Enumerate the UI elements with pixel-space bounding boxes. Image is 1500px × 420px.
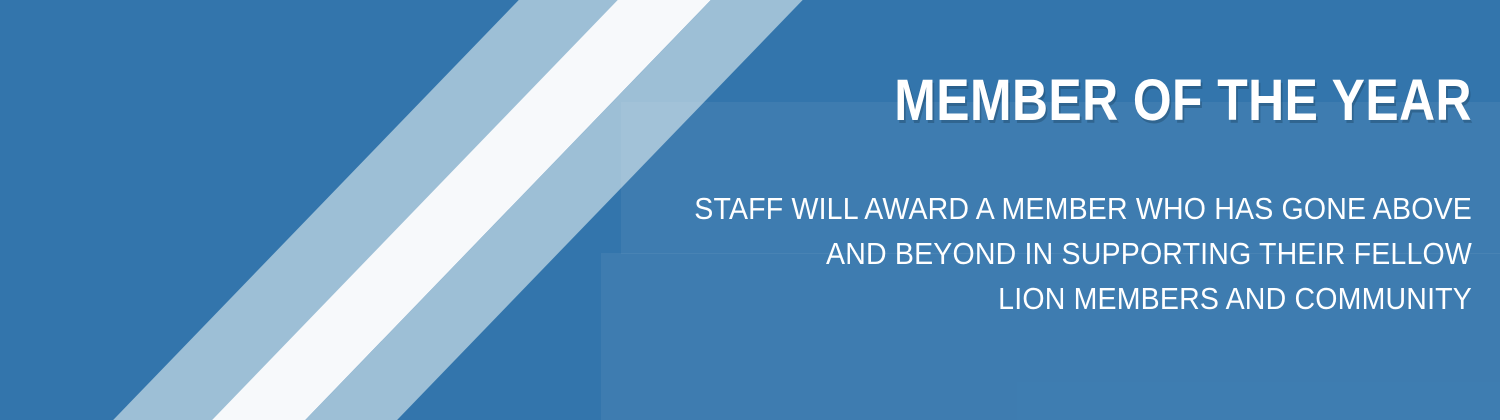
banner-text-block: MEMBER OF THE YEAR STAFF WILL AWARD A ME… <box>600 0 1472 420</box>
banner-subtitle-line-2: AND BEYOND IN SUPPORTING THEIR FELLOW <box>670 231 1472 276</box>
banner-title: MEMBER OF THE YEAR <box>722 72 1472 130</box>
member-of-the-year-banner: MEMBER OF THE YEAR STAFF WILL AWARD A ME… <box>0 0 1500 420</box>
banner-subtitle-line-1: STAFF WILL AWARD A MEMBER WHO HAS GONE A… <box>670 186 1472 231</box>
banner-subtitle-line-3: LION MEMBERS AND COMMUNITY <box>670 276 1472 321</box>
banner-subtitle: STAFF WILL AWARD A MEMBER WHO HAS GONE A… <box>670 186 1472 321</box>
